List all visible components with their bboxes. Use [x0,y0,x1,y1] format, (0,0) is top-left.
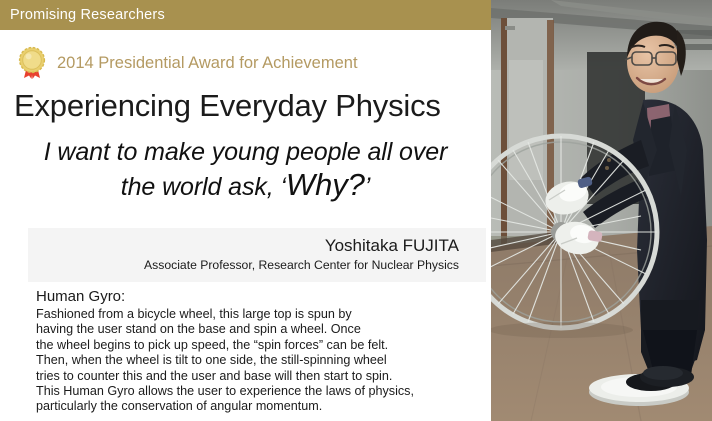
award-medal-icon [16,46,48,80]
section-header-label: Promising Researchers [10,6,165,24]
description-line: particularly the conservation of angular… [36,399,486,414]
description-line: Fashioned from a bicycle wheel, this lar… [36,307,486,322]
promising-researchers-profile-card: Promising Researchers 2014 Presidential … [0,0,712,421]
subtitle-line-2-lead: the world ask, ‘ [121,173,286,201]
description-paragraph: Fashioned from a bicycle wheel, this lar… [36,307,486,415]
content-column: Promising Researchers 2014 Presidential … [0,0,491,421]
subtitle-line-2-emphasis: Why? [286,167,365,202]
description-line: This Human Gyro allows the user to exper… [36,384,486,399]
description-heading: Human Gyro: [36,287,486,306]
award-row: 2014 Presidential Award for Achievement [16,44,476,82]
subtitle-line-2-tail: ’ [365,173,370,201]
subtitle-line-1: I want to make young people all over [8,138,483,167]
page-title: Experiencing Everyday Physics [14,88,479,124]
description-line: the wheel begins to pick up speed, the “… [36,338,486,353]
description-line: having the user stand on the base and sp… [36,322,486,337]
award-title-text: 2014 Presidential Award for Achievement [57,53,358,73]
author-affiliation: Associate Professor, Research Center for… [144,257,459,273]
author-name: Yoshitaka FUJITA [325,235,459,256]
subtitle-line-2: the world ask, ‘Why?’ [8,169,483,203]
description-line: Then, when the wheel is tilt to one side… [36,353,486,368]
description-block: Human Gyro: Fashioned from a bicycle whe… [36,287,486,415]
section-header-bar: Promising Researchers [0,0,491,30]
researcher-photo [491,0,712,421]
description-line: tries to counter this and the user and b… [36,369,486,384]
